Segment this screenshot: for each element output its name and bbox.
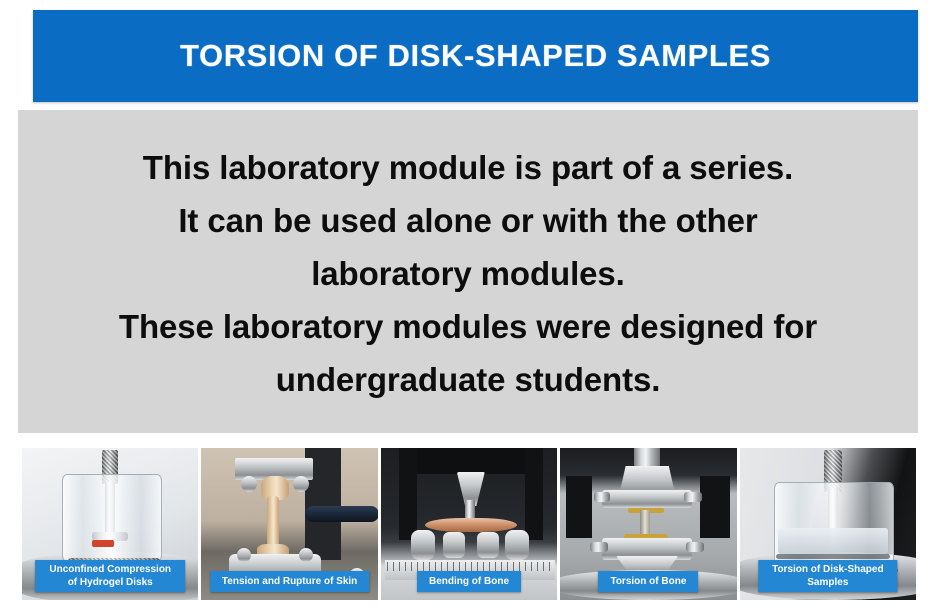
caption-torsion-disk-shaped-samples: Torsion of Disk-Shaped Samples <box>758 560 898 592</box>
caption-line-2: Samples <box>772 576 884 589</box>
thumbnail-tension-rupture-skin[interactable]: Tension and Rupture of Skin <box>201 448 377 600</box>
caption-unconfined-compression: Unconfined Compression of Hydrogel Disks <box>35 560 185 592</box>
thumbnail-torsion-of-bone[interactable]: Torsion of Bone <box>560 448 736 600</box>
body-line-2: It can be used alone or with the other <box>178 194 757 247</box>
caption-torsion-of-bone: Torsion of Bone <box>598 571 698 592</box>
body-line-1: This laboratory module is part of a seri… <box>143 141 793 194</box>
caption-line-1: Bending of Bone <box>429 575 509 588</box>
caption-line-1: Tension and Rupture of Skin <box>222 575 357 588</box>
slide-title-banner: TORSION OF DISK-SHAPED SAMPLES <box>33 10 918 102</box>
thumbnail-bending-of-bone[interactable]: Bending of Bone <box>381 448 557 600</box>
slide-body-panel: This laboratory module is part of a seri… <box>18 110 918 433</box>
caption-bending-of-bone: Bending of Bone <box>417 571 521 592</box>
caption-line-2: of Hydrogel Disks <box>49 576 171 589</box>
body-line-4: These laboratory modules were designed f… <box>119 300 817 353</box>
module-thumbnail-strip: Unconfined Compression of Hydrogel Disks… <box>22 448 916 600</box>
body-line-5: undergraduate students. <box>276 353 661 406</box>
thumbnail-torsion-disk-shaped-samples[interactable]: Torsion of Disk-Shaped Samples <box>740 448 916 600</box>
caption-line-1: Unconfined Compression <box>49 563 171 576</box>
body-line-3: laboratory modules. <box>311 247 625 300</box>
thumbnail-unconfined-compression[interactable]: Unconfined Compression of Hydrogel Disks <box>22 448 198 600</box>
caption-tension-rupture-skin: Tension and Rupture of Skin <box>210 571 369 592</box>
slide-title: TORSION OF DISK-SHAPED SAMPLES <box>180 38 771 74</box>
caption-line-1: Torsion of Bone <box>610 575 686 588</box>
caption-line-1: Torsion of Disk-Shaped <box>772 563 884 576</box>
